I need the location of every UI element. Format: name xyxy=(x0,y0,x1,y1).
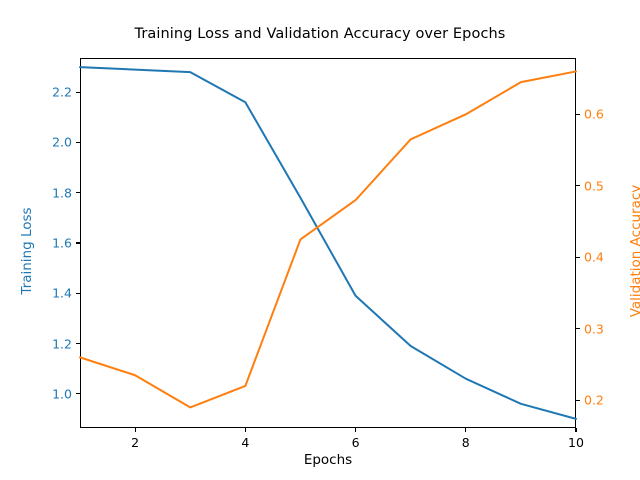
line-validation-accuracy xyxy=(80,71,576,407)
tick-mark xyxy=(76,192,80,193)
tick-label: 8 xyxy=(462,435,470,450)
tick-mark xyxy=(135,428,136,432)
tick-label: 2 xyxy=(131,435,139,450)
tick-label: 0.3 xyxy=(584,321,630,336)
tick-mark xyxy=(76,142,80,143)
tick-mark xyxy=(576,257,580,258)
tick-mark xyxy=(76,343,80,344)
chart-figure: Training Loss and Validation Accuracy ov… xyxy=(0,0,640,480)
tick-mark xyxy=(576,400,580,401)
tick-label: 10 xyxy=(568,435,584,450)
tick-label: 0.2 xyxy=(584,393,630,408)
tick-mark xyxy=(245,428,246,432)
tick-label: 2.2 xyxy=(26,85,72,100)
tick-label: 1.2 xyxy=(26,336,72,351)
tick-mark xyxy=(576,114,580,115)
x-axis-label: Epochs xyxy=(80,452,576,468)
tick-mark xyxy=(76,293,80,294)
tick-mark xyxy=(76,92,80,93)
tick-label: 4 xyxy=(241,435,249,450)
tick-label: 1.4 xyxy=(26,286,72,301)
tick-label: 1.8 xyxy=(26,185,72,200)
tick-label: 0.6 xyxy=(584,107,630,122)
tick-label: 6 xyxy=(352,435,360,450)
tick-mark xyxy=(355,428,356,432)
tick-label: 0.5 xyxy=(584,178,630,193)
tick-mark xyxy=(465,428,466,432)
tick-mark xyxy=(76,242,80,243)
tick-label: 1.6 xyxy=(26,236,72,251)
tick-mark xyxy=(76,393,80,394)
plot-lines xyxy=(80,58,576,428)
chart-title: Training Loss and Validation Accuracy ov… xyxy=(0,26,640,42)
tick-mark xyxy=(576,185,580,186)
tick-label: 0.4 xyxy=(584,250,630,265)
tick-label: 1.0 xyxy=(26,386,72,401)
tick-mark xyxy=(576,328,580,329)
tick-label: 2.0 xyxy=(26,135,72,150)
line-training-loss xyxy=(80,67,576,419)
tick-mark xyxy=(575,428,576,432)
